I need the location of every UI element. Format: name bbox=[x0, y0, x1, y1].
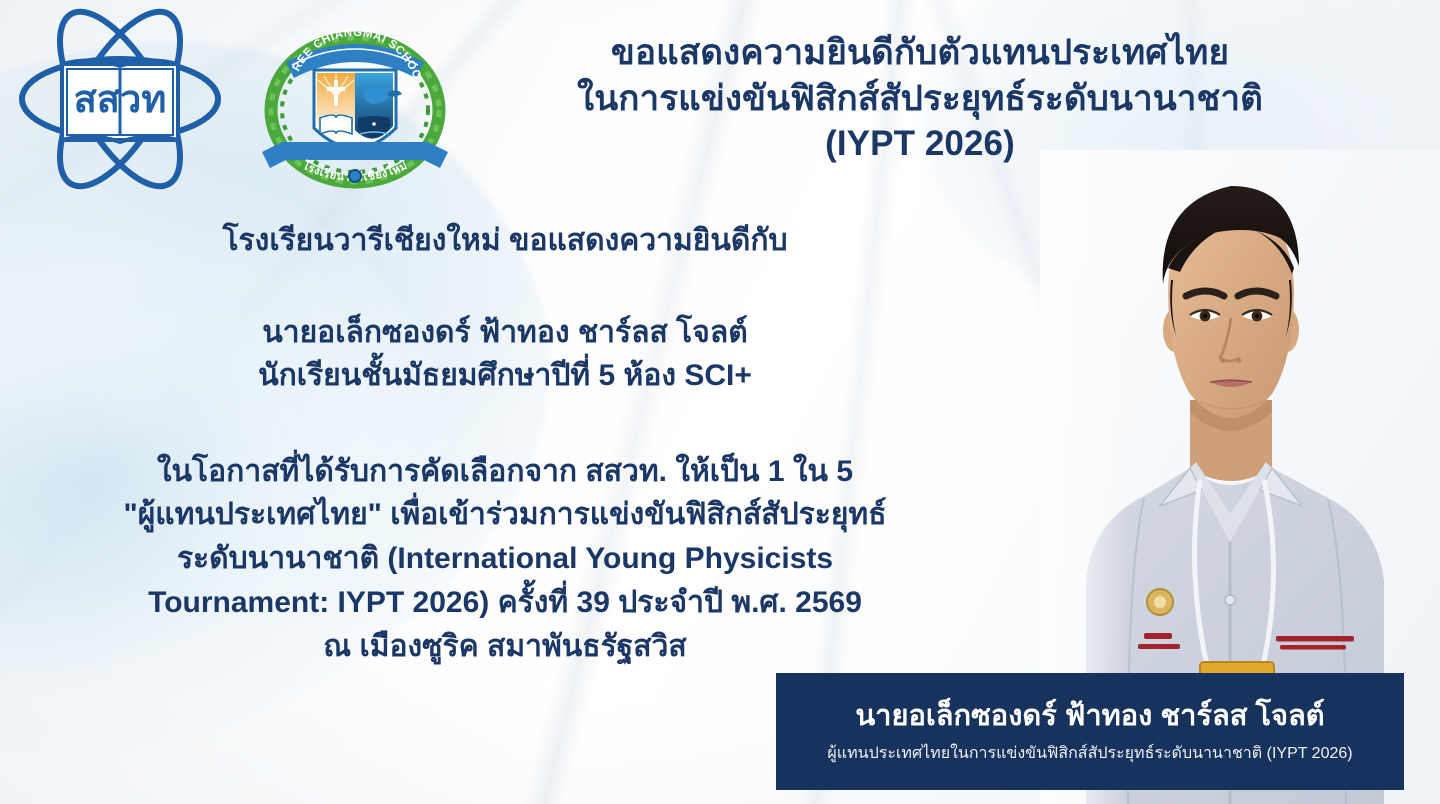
student-name: นายอเล็กซองดร์ ฟ้าทอง ชาร์ลส โจลต์ bbox=[0, 312, 1010, 355]
greeting-text: โรงเรียนวารีเชียงใหม่ ขอแสดงความยินดีกับ bbox=[0, 222, 1010, 260]
student-info: นายอเล็กซองดร์ ฟ้าทอง ชาร์ลส โจลต์ นักเร… bbox=[0, 312, 1010, 397]
greeting-line-1: โรงเรียนวารีเชียงใหม่ ขอแสดงความยินดีกับ bbox=[0, 222, 1010, 260]
detail-line-1: ในโอกาสที่ได้รับการคัดเลือกจาก สสวท. ให้… bbox=[0, 450, 1010, 494]
detail-paragraph: ในโอกาสที่ได้รับการคัดเลือกจาก สสวท. ให้… bbox=[0, 450, 1010, 669]
body-text-block: โรงเรียนวารีเชียงใหม่ ขอแสดงความยินดีกับ… bbox=[0, 222, 1010, 669]
varee-school-crest: VAREE CHIANGMAI SCHOOL โรงเรียนวาร bbox=[252, 18, 458, 190]
detail-line-4: Tournament: IYPT 2026) ครั้งที่ 39 ประจำ… bbox=[0, 581, 1010, 625]
detail-line-2: "ผู้แทนประเทศไทย" เพื่อเข้าร่วมการแข่งขั… bbox=[0, 493, 1010, 537]
caption-student-name: นายอเล็กซองดร์ ฟ้าทอง ชาร์ลส โจลต์ bbox=[855, 701, 1324, 733]
student-grade: นักเรียนชั้นมัธยมศึกษาปีที่ 5 ห้อง SCI+ bbox=[0, 355, 1010, 398]
ipst-logo: สสวท bbox=[14, 8, 226, 190]
headline-line-2: ในการแข่งขันฟิสิกส์สัประยุทธ์ระดับนานาชา… bbox=[470, 76, 1370, 122]
headline: ขอแสดงความยินดีกับตัวแทนประเทศไทย ในการแ… bbox=[470, 30, 1370, 167]
caption-student-role: ผู้แทนประเทศไทยในการแข่งขันฟิสิกส์สัประย… bbox=[827, 745, 1352, 763]
headline-line-1: ขอแสดงความยินดีกับตัวแทนประเทศไทย bbox=[470, 30, 1370, 76]
ipst-acronym: สสวท bbox=[74, 79, 167, 121]
detail-line-3: ระดับนานาชาติ (International Young Physi… bbox=[0, 537, 1010, 581]
detail-line-5: ณ เมืองซูริค สมาพันธรัฐสวิส bbox=[0, 625, 1010, 669]
congratulation-poster: สสวท bbox=[0, 0, 1440, 804]
caption-banner: นายอเล็กซองดร์ ฟ้าทอง ชาร์ลส โจลต์ ผู้แท… bbox=[776, 673, 1404, 790]
